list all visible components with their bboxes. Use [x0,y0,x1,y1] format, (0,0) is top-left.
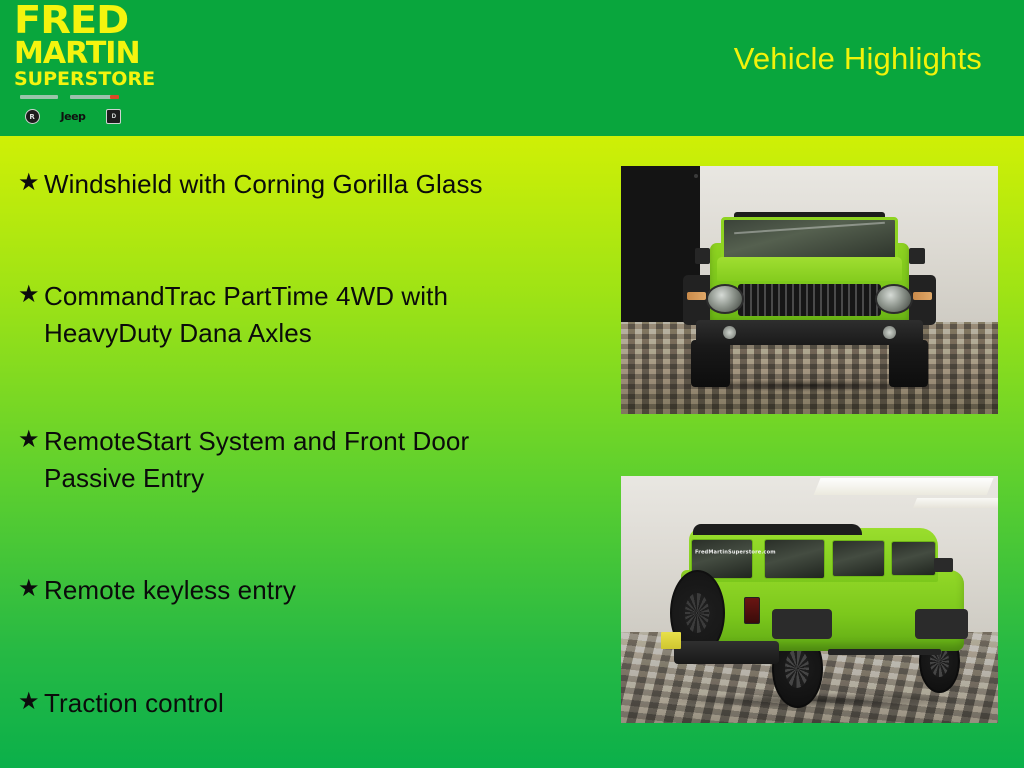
left-mirror [695,248,711,264]
logo-line-fred: FRED [14,3,142,38]
list-item-label: CommandTrac PartTime 4WD with HeavyDuty … [44,278,564,352]
front-left-tire [691,340,731,387]
dodge-badge-icon: D [106,109,121,124]
left-marker-light [687,292,706,300]
star-bullet-icon: ★ [14,685,44,719]
license-plate [661,632,682,649]
jeep-badge-icon: Jeep [61,110,86,123]
logo-line-superstore: SUPERSTORE [14,71,136,88]
right-marker-light [913,292,932,300]
front-door-window [891,541,936,576]
side-step-rail [828,649,941,655]
ceiling-light [814,478,994,495]
rear-door-window [832,540,885,577]
brand-wordmark-row [14,93,132,102]
brand-badge-row: R Jeep D [14,109,132,124]
hood [717,257,902,282]
highlights-list: ★ Windshield with Corning Gorilla Glass … [14,150,589,750]
vehicle-photo-front[interactable] [621,166,998,414]
windshield [721,217,898,262]
list-item: ★ RemoteStart System and Front Door Pass… [14,423,589,497]
slide-root: Vehicle Highlights FRED MARTIN SUPERSTOR… [0,0,1024,768]
star-bullet-icon: ★ [14,278,44,312]
hardtop-roof [693,524,863,535]
ram-badge-icon: R [25,109,40,124]
star-bullet-icon: ★ [14,572,44,606]
rear-quarter-window [764,539,824,579]
rear-bumper [674,641,780,663]
list-item: ★ CommandTrac PartTime 4WD with HeavyDut… [14,278,589,352]
right-headlight [875,284,913,314]
seven-slot-grille-icon [738,284,881,316]
dealer-logo[interactable]: FRED MARTIN SUPERSTORE R Jeep D [14,3,136,133]
ceiling-light-secondary [913,498,998,508]
right-mirror [909,248,925,264]
front-fender-flare [915,609,968,639]
dodge-wordmark-icon [70,95,114,99]
vehicle-shadow [666,693,968,708]
left-headlight [706,284,744,314]
list-item-label: Windshield with Corning Gorilla Glass [44,166,483,203]
list-item-label: Traction control [44,685,224,722]
star-bullet-icon: ★ [14,166,44,200]
page-title: Vehicle Highlights [734,41,982,77]
vehicle-photo-rear[interactable]: FredMartinSuperstore.com [621,476,998,723]
showroom-scene-front [621,166,998,414]
rear-fender-flare [772,609,832,639]
left-fog-light [723,326,736,339]
list-item-label: RemoteStart System and Front Door Passiv… [44,423,564,497]
chrysler-wordmark-icon [20,95,58,99]
showroom-scene-rear: FredMartinSuperstore.com [621,476,998,723]
star-bullet-icon: ★ [14,423,44,457]
tail-light [744,597,761,624]
window-decal-label: FredMartinSuperstore.com [695,549,776,555]
right-fog-light [883,326,896,339]
ram-accent-icon [110,95,119,99]
side-mirror [934,558,953,573]
logo-line-martin: MARTIN [14,40,136,68]
list-item: ★ Remote keyless entry [14,572,589,609]
list-item-label: Remote keyless entry [44,572,296,609]
list-item: ★ Traction control [14,685,589,722]
front-right-tire [889,340,929,387]
list-item: ★ Windshield with Corning Gorilla Glass [14,166,589,203]
